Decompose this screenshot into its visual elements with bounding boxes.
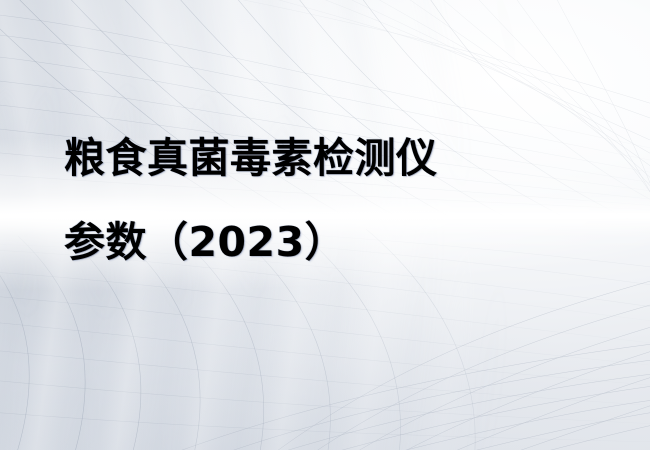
product-title-banner: 粮食真菌毒素检测仪 参数（2023） bbox=[0, 0, 650, 450]
title-line-1: 粮食真菌毒素检测仪 bbox=[64, 138, 624, 179]
banner-title: 粮食真菌毒素检测仪 参数（2023） bbox=[64, 138, 624, 263]
title-line-2: 参数（2023） bbox=[64, 222, 624, 263]
